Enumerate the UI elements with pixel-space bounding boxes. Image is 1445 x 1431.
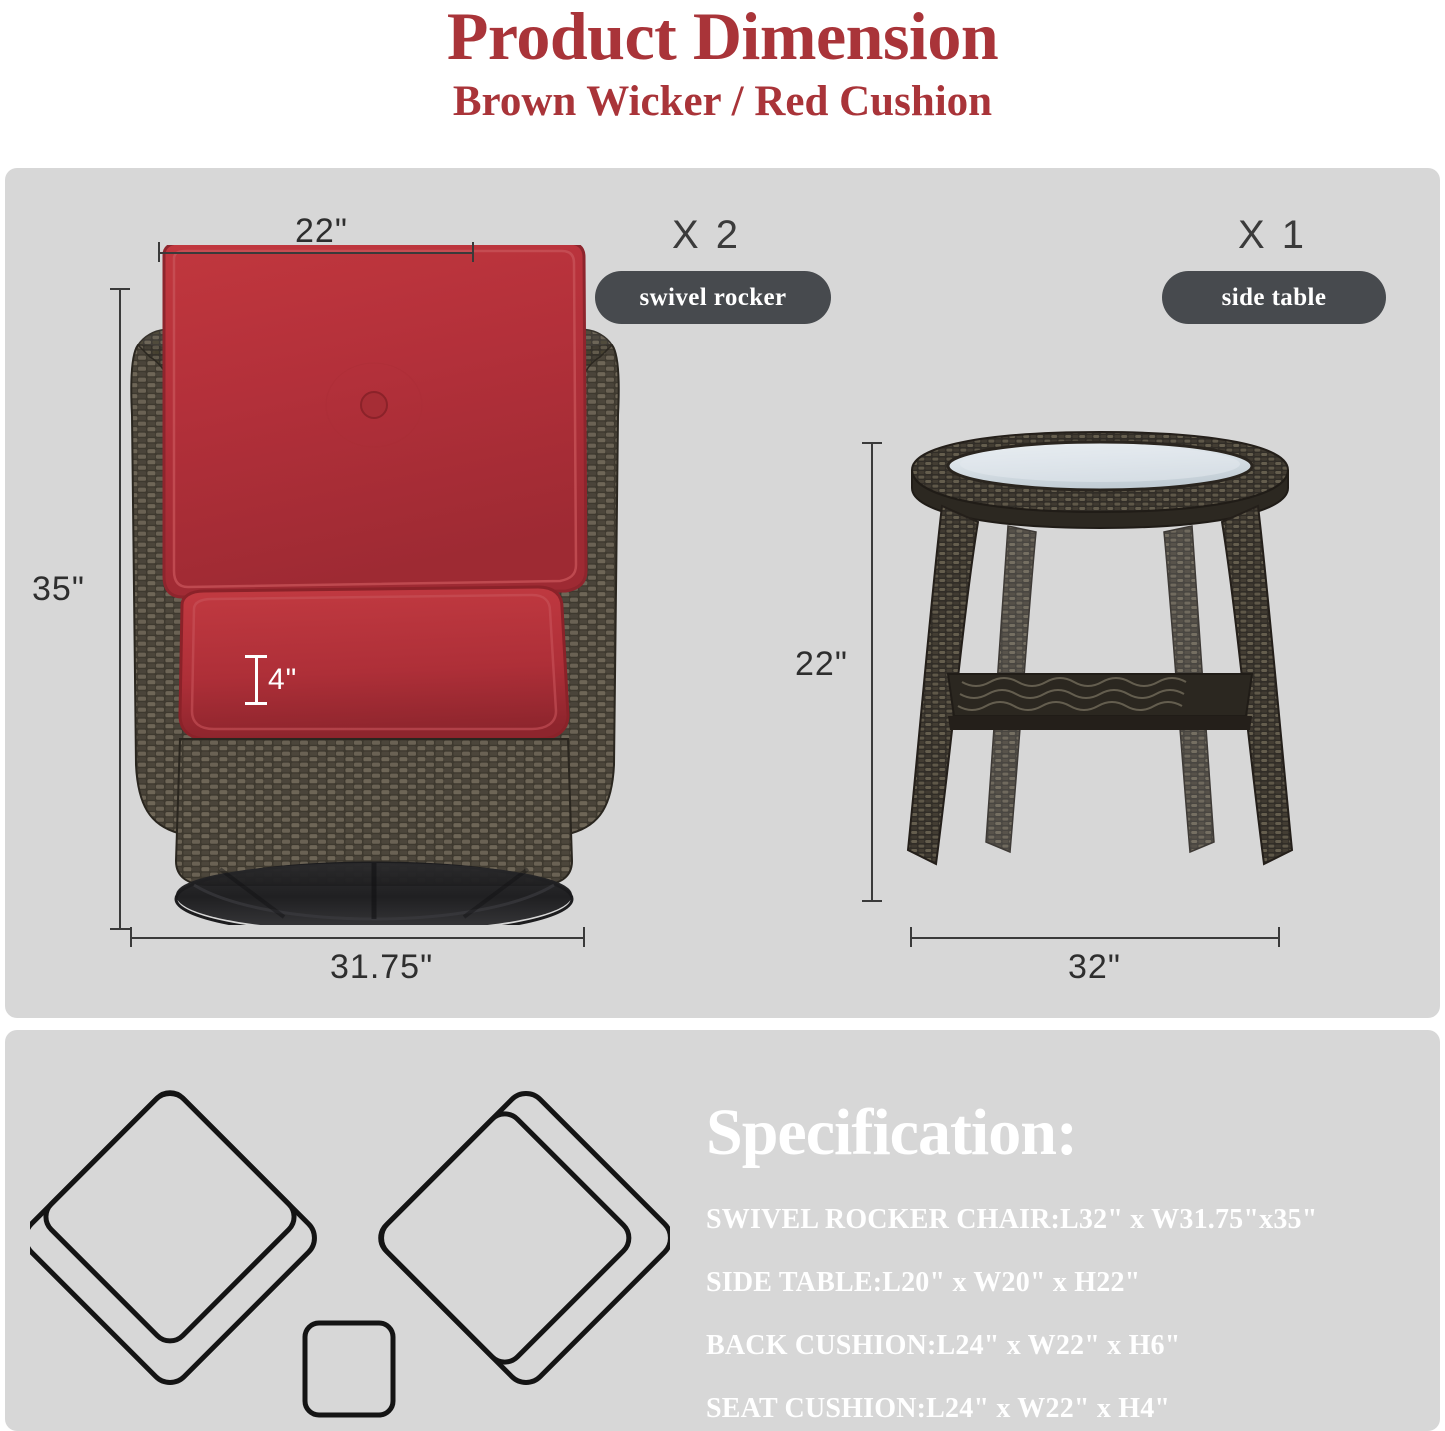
dimension-cap-right bbox=[472, 242, 474, 262]
specification-heading: Specification: bbox=[706, 1098, 1077, 1168]
specification-line: SIDE TABLE:L20" x W20" x H22" bbox=[706, 1267, 1140, 1299]
dimension-label-22-chair: 22" bbox=[295, 212, 348, 251]
dimension-line-table-height bbox=[871, 442, 873, 902]
dimension-label-22-table: 22" bbox=[795, 645, 848, 684]
dimension-cap-table-top bbox=[862, 442, 882, 444]
dimension-cap-bl bbox=[130, 927, 132, 947]
side-table-illustration bbox=[890, 430, 1310, 930]
count-label-swivel-rocker: X 2 bbox=[672, 213, 741, 258]
dimension-label-35-chair: 35" bbox=[32, 570, 85, 609]
dimension-cap-seat-bottom bbox=[245, 702, 267, 705]
dimension-cap-seat-top bbox=[245, 655, 267, 658]
dimension-cap-table-r bbox=[1278, 927, 1280, 947]
dimension-cap-br bbox=[583, 927, 585, 947]
dimension-label-3175-chair: 31.75" bbox=[330, 948, 433, 987]
dimension-cap-left bbox=[158, 242, 160, 262]
page-subtitle: Brown Wicker / Red Cushion bbox=[0, 76, 1445, 128]
dimension-line-chair-width-bottom bbox=[130, 937, 585, 939]
dimension-line-table-width bbox=[910, 937, 1280, 939]
badge-swivel-rocker[interactable]: swivel rocker bbox=[595, 271, 831, 324]
count-label-side-table: X 1 bbox=[1238, 213, 1307, 258]
header: Product Dimension Brown Wicker / Red Cus… bbox=[0, 0, 1445, 168]
dimension-cap-table-bottom bbox=[862, 900, 882, 902]
dimension-cap-top bbox=[110, 288, 130, 290]
dimension-line-seat-thickness bbox=[255, 655, 258, 705]
swivel-rocker-illustration bbox=[120, 245, 630, 925]
page-title: Product Dimension bbox=[0, 0, 1445, 74]
badge-side-table[interactable]: side table bbox=[1162, 271, 1386, 324]
product-dimension-infographic: Product Dimension Brown Wicker / Red Cus… bbox=[0, 0, 1445, 1431]
package-box-diagrams bbox=[30, 1070, 670, 1420]
specification-line: BACK CUSHION:L24" x W22" x H6" bbox=[706, 1330, 1181, 1362]
badge-swivel-rocker-label: swivel rocker bbox=[639, 284, 786, 312]
specification-line: SEAT CUSHION:L24" x W22" x H4" bbox=[706, 1393, 1170, 1425]
badge-side-table-label: side table bbox=[1222, 284, 1327, 312]
specification-line: SWIVEL ROCKER CHAIR:L32" x W31.75"x35" bbox=[706, 1204, 1317, 1236]
dimension-line-chair-width-top bbox=[158, 252, 474, 254]
dimension-label-32-table: 32" bbox=[1068, 948, 1121, 987]
dimension-cap-bottom bbox=[110, 928, 130, 930]
dimension-cap-table-l bbox=[910, 927, 912, 947]
dimension-label-4-seat: 4" bbox=[268, 663, 297, 697]
dimension-line-chair-height bbox=[119, 288, 121, 930]
